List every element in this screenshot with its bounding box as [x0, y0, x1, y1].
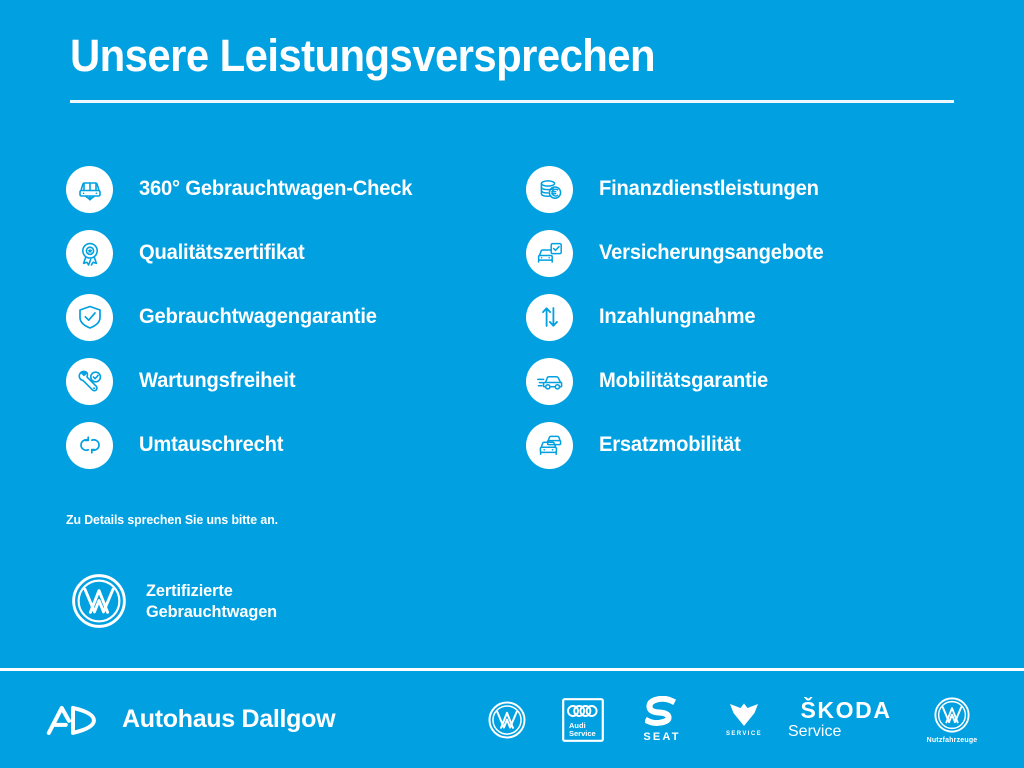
benefit-item-gebrauchtwagengarantie: Gebrauchtwagengarantie — [66, 285, 526, 349]
wrench-check-icon — [66, 358, 113, 405]
footnote-text: Zu Details sprechen Sie uns bitte an. — [66, 512, 278, 527]
brand-audi-service: Audi Service — [544, 698, 622, 742]
award-seal-icon — [66, 230, 113, 277]
skoda-service-sub: Service — [788, 722, 841, 742]
brand-volkswagen-nutzfahrzeuge: Nutzfahrzeuge — [906, 696, 998, 744]
benefit-item-wartungsfreiheit: Wartungsfreiheit — [66, 349, 526, 413]
car-document-icon — [526, 230, 573, 277]
benefits-section: 360° Gebrauchtwagen-Check Qualitätszerti… — [66, 157, 966, 477]
benefit-item-ersatzmobilitaet: Ersatzmobilität — [526, 413, 966, 477]
promo-page: Unsere Leistungsversprechen — [0, 0, 1024, 768]
benefit-item-inzahlungnahme: Inzahlungnahme — [526, 285, 966, 349]
benefit-label: Inzahlungnahme — [599, 305, 755, 329]
benefit-label: Ersatzmobilität — [599, 433, 741, 457]
svg-text:Service: Service — [569, 729, 596, 738]
benefit-label: Gebrauchtwagengarantie — [139, 305, 377, 329]
benefit-label: Mobilitätsgarantie — [599, 369, 768, 393]
benefits-right-column: Finanzdienstleistungen Versicheru — [526, 157, 966, 477]
benefit-item-gebrauchtwagen-check: 360° Gebrauchtwagen-Check — [66, 157, 526, 221]
seat-s-logo — [645, 696, 679, 728]
skoda-wordmark: ŠKODA — [800, 698, 891, 722]
exchange-arrows-icon — [66, 422, 113, 469]
brand-logos: Audi Service SEAT SERVICE ŠKODA Service — [470, 696, 998, 744]
benefit-label: Wartungsfreiheit — [139, 369, 295, 393]
audi-rings-logo: Audi Service — [562, 698, 604, 742]
benefit-item-finanzdienstleistungen: Finanzdienstleistungen — [526, 157, 966, 221]
cupra-logo — [727, 702, 761, 728]
brand-seat: SEAT — [622, 696, 702, 743]
two-cars-icon — [526, 422, 573, 469]
page-title: Unsere Leistungsversprechen — [70, 28, 892, 84]
volkswagen-logo — [70, 572, 128, 630]
car-check-icon — [66, 166, 113, 213]
cupra-service-sub: SERVICE — [726, 731, 762, 737]
benefit-label: Qualitätszertifikat — [139, 241, 305, 265]
brand-skoda-service: ŠKODA Service — [786, 698, 906, 742]
benefit-item-qualitaetszertifikat: Qualitätszertifikat — [66, 221, 526, 285]
benefits-left-column: 360° Gebrauchtwagen-Check Qualitätszerti… — [66, 157, 526, 477]
page-footer: Autohaus Dallgow — [0, 671, 1024, 768]
benefit-item-mobilitaetsgarantie: Mobilitätsgarantie — [526, 349, 966, 413]
benefit-item-versicherungsangebote: Versicherungsangebote — [526, 221, 966, 285]
dealer-name: Autohaus Dallgow — [122, 705, 335, 734]
certified-badge-text: Zertifizierte Gebrauchtwagen — [146, 580, 277, 622]
page-header: Unsere Leistungsversprechen — [70, 28, 954, 103]
car-motion-icon — [526, 358, 573, 405]
brand-cupra-service: SERVICE — [702, 702, 786, 737]
vw-nutzfahrzeuge-sub: Nutzfahrzeuge — [927, 737, 978, 744]
dealer-identity: Autohaus Dallgow — [44, 700, 344, 740]
autohaus-dallgow-monogram — [44, 700, 102, 740]
certified-badge-line2: Gebrauchtwagen — [146, 601, 277, 622]
benefit-label: Finanzdienstleistungen — [599, 177, 819, 201]
coins-euro-icon — [526, 166, 573, 213]
brand-volkswagen — [470, 700, 544, 740]
certified-used-cars-badge: Zertifizierte Gebrauchtwagen — [70, 572, 283, 630]
certified-badge-line1: Zertifizierte — [146, 580, 277, 601]
seat-wordmark: SEAT — [643, 731, 680, 743]
benefit-label: 360° Gebrauchtwagen-Check — [139, 177, 412, 201]
benefit-label: Versicherungsangebote — [599, 241, 824, 265]
benefit-label: Umtauschrecht — [139, 433, 283, 457]
volkswagen-logo — [933, 696, 971, 734]
shield-check-icon — [66, 294, 113, 341]
benefit-item-umtauschrecht: Umtauschrecht — [66, 413, 526, 477]
volkswagen-logo — [487, 700, 527, 740]
title-divider — [70, 100, 954, 103]
up-down-arrows-icon — [526, 294, 573, 341]
